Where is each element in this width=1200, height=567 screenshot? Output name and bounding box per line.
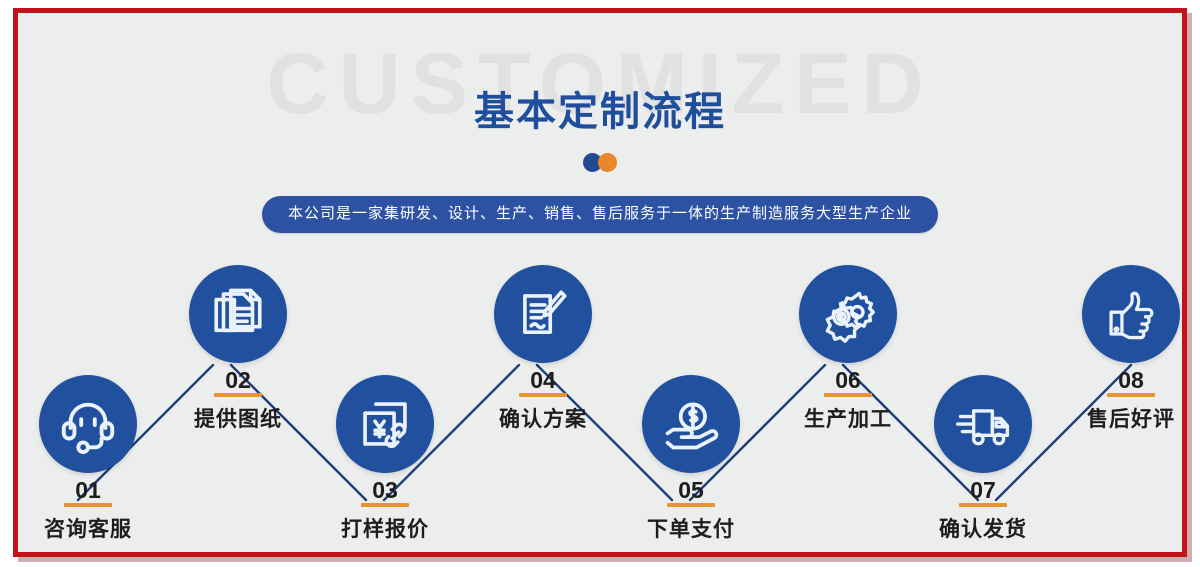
step-number: 01 bbox=[13, 478, 168, 502]
step-icon-circle bbox=[642, 375, 740, 473]
step-number: 04 bbox=[463, 368, 623, 392]
process-steps: 01 咨询客服 02 bbox=[18, 13, 1182, 552]
step-number-underline bbox=[214, 393, 262, 397]
step-icon-circle bbox=[494, 265, 592, 363]
process-step-01[interactable]: 01 咨询客服 bbox=[13, 375, 168, 543]
step-number-underline bbox=[824, 393, 872, 397]
step-number: 02 bbox=[158, 368, 318, 392]
step-label: 下单支付 bbox=[611, 513, 771, 543]
step-number-underline bbox=[959, 503, 1007, 507]
step-number-underline bbox=[667, 503, 715, 507]
step-number-underline bbox=[64, 503, 112, 507]
process-step-08[interactable]: 08 售后好评 bbox=[1051, 265, 1187, 433]
thumbs-up-icon bbox=[1102, 285, 1160, 343]
gears-icon bbox=[818, 284, 878, 344]
customization-process-poster: CUSTOMIZED 基本定制流程 本公司是一家集研发、设计、生产、销售、售后服… bbox=[0, 0, 1200, 567]
step-icon-circle bbox=[799, 265, 897, 363]
process-step-03[interactable]: 03 打样报价 bbox=[305, 375, 465, 543]
step-icon-circle bbox=[189, 265, 287, 363]
step-number: 07 bbox=[903, 478, 1063, 502]
process-step-04[interactable]: 04 确认方案 bbox=[463, 265, 623, 433]
step-label: 确认发货 bbox=[903, 513, 1063, 543]
price-tag-link-icon bbox=[356, 395, 414, 453]
step-number: 03 bbox=[305, 478, 465, 502]
step-label: 咨询客服 bbox=[13, 513, 168, 543]
step-icon-circle bbox=[934, 375, 1032, 473]
hand-money-icon bbox=[661, 394, 721, 454]
step-label: 售后好评 bbox=[1051, 403, 1187, 433]
delivery-truck-icon bbox=[953, 394, 1013, 454]
documents-icon bbox=[209, 285, 267, 343]
step-icon-circle bbox=[336, 375, 434, 473]
red-frame: CUSTOMIZED 基本定制流程 本公司是一家集研发、设计、生产、销售、售后服… bbox=[13, 8, 1187, 557]
step-icon-circle bbox=[39, 375, 137, 473]
contract-pen-icon bbox=[514, 285, 572, 343]
step-label: 打样报价 bbox=[305, 513, 465, 543]
process-step-07[interactable]: 07 确认发货 bbox=[903, 375, 1063, 543]
step-number: 05 bbox=[611, 478, 771, 502]
step-number: 08 bbox=[1051, 368, 1187, 392]
step-number-underline bbox=[519, 393, 567, 397]
process-step-02[interactable]: 02 提供图纸 bbox=[158, 265, 318, 433]
step-icon-circle bbox=[1082, 265, 1180, 363]
step-label: 提供图纸 bbox=[158, 403, 318, 433]
step-number-underline bbox=[1107, 393, 1155, 397]
headset-icon bbox=[57, 393, 119, 455]
step-label: 确认方案 bbox=[463, 403, 623, 433]
step-number-underline bbox=[361, 503, 409, 507]
process-step-05[interactable]: 05 下单支付 bbox=[611, 375, 771, 543]
